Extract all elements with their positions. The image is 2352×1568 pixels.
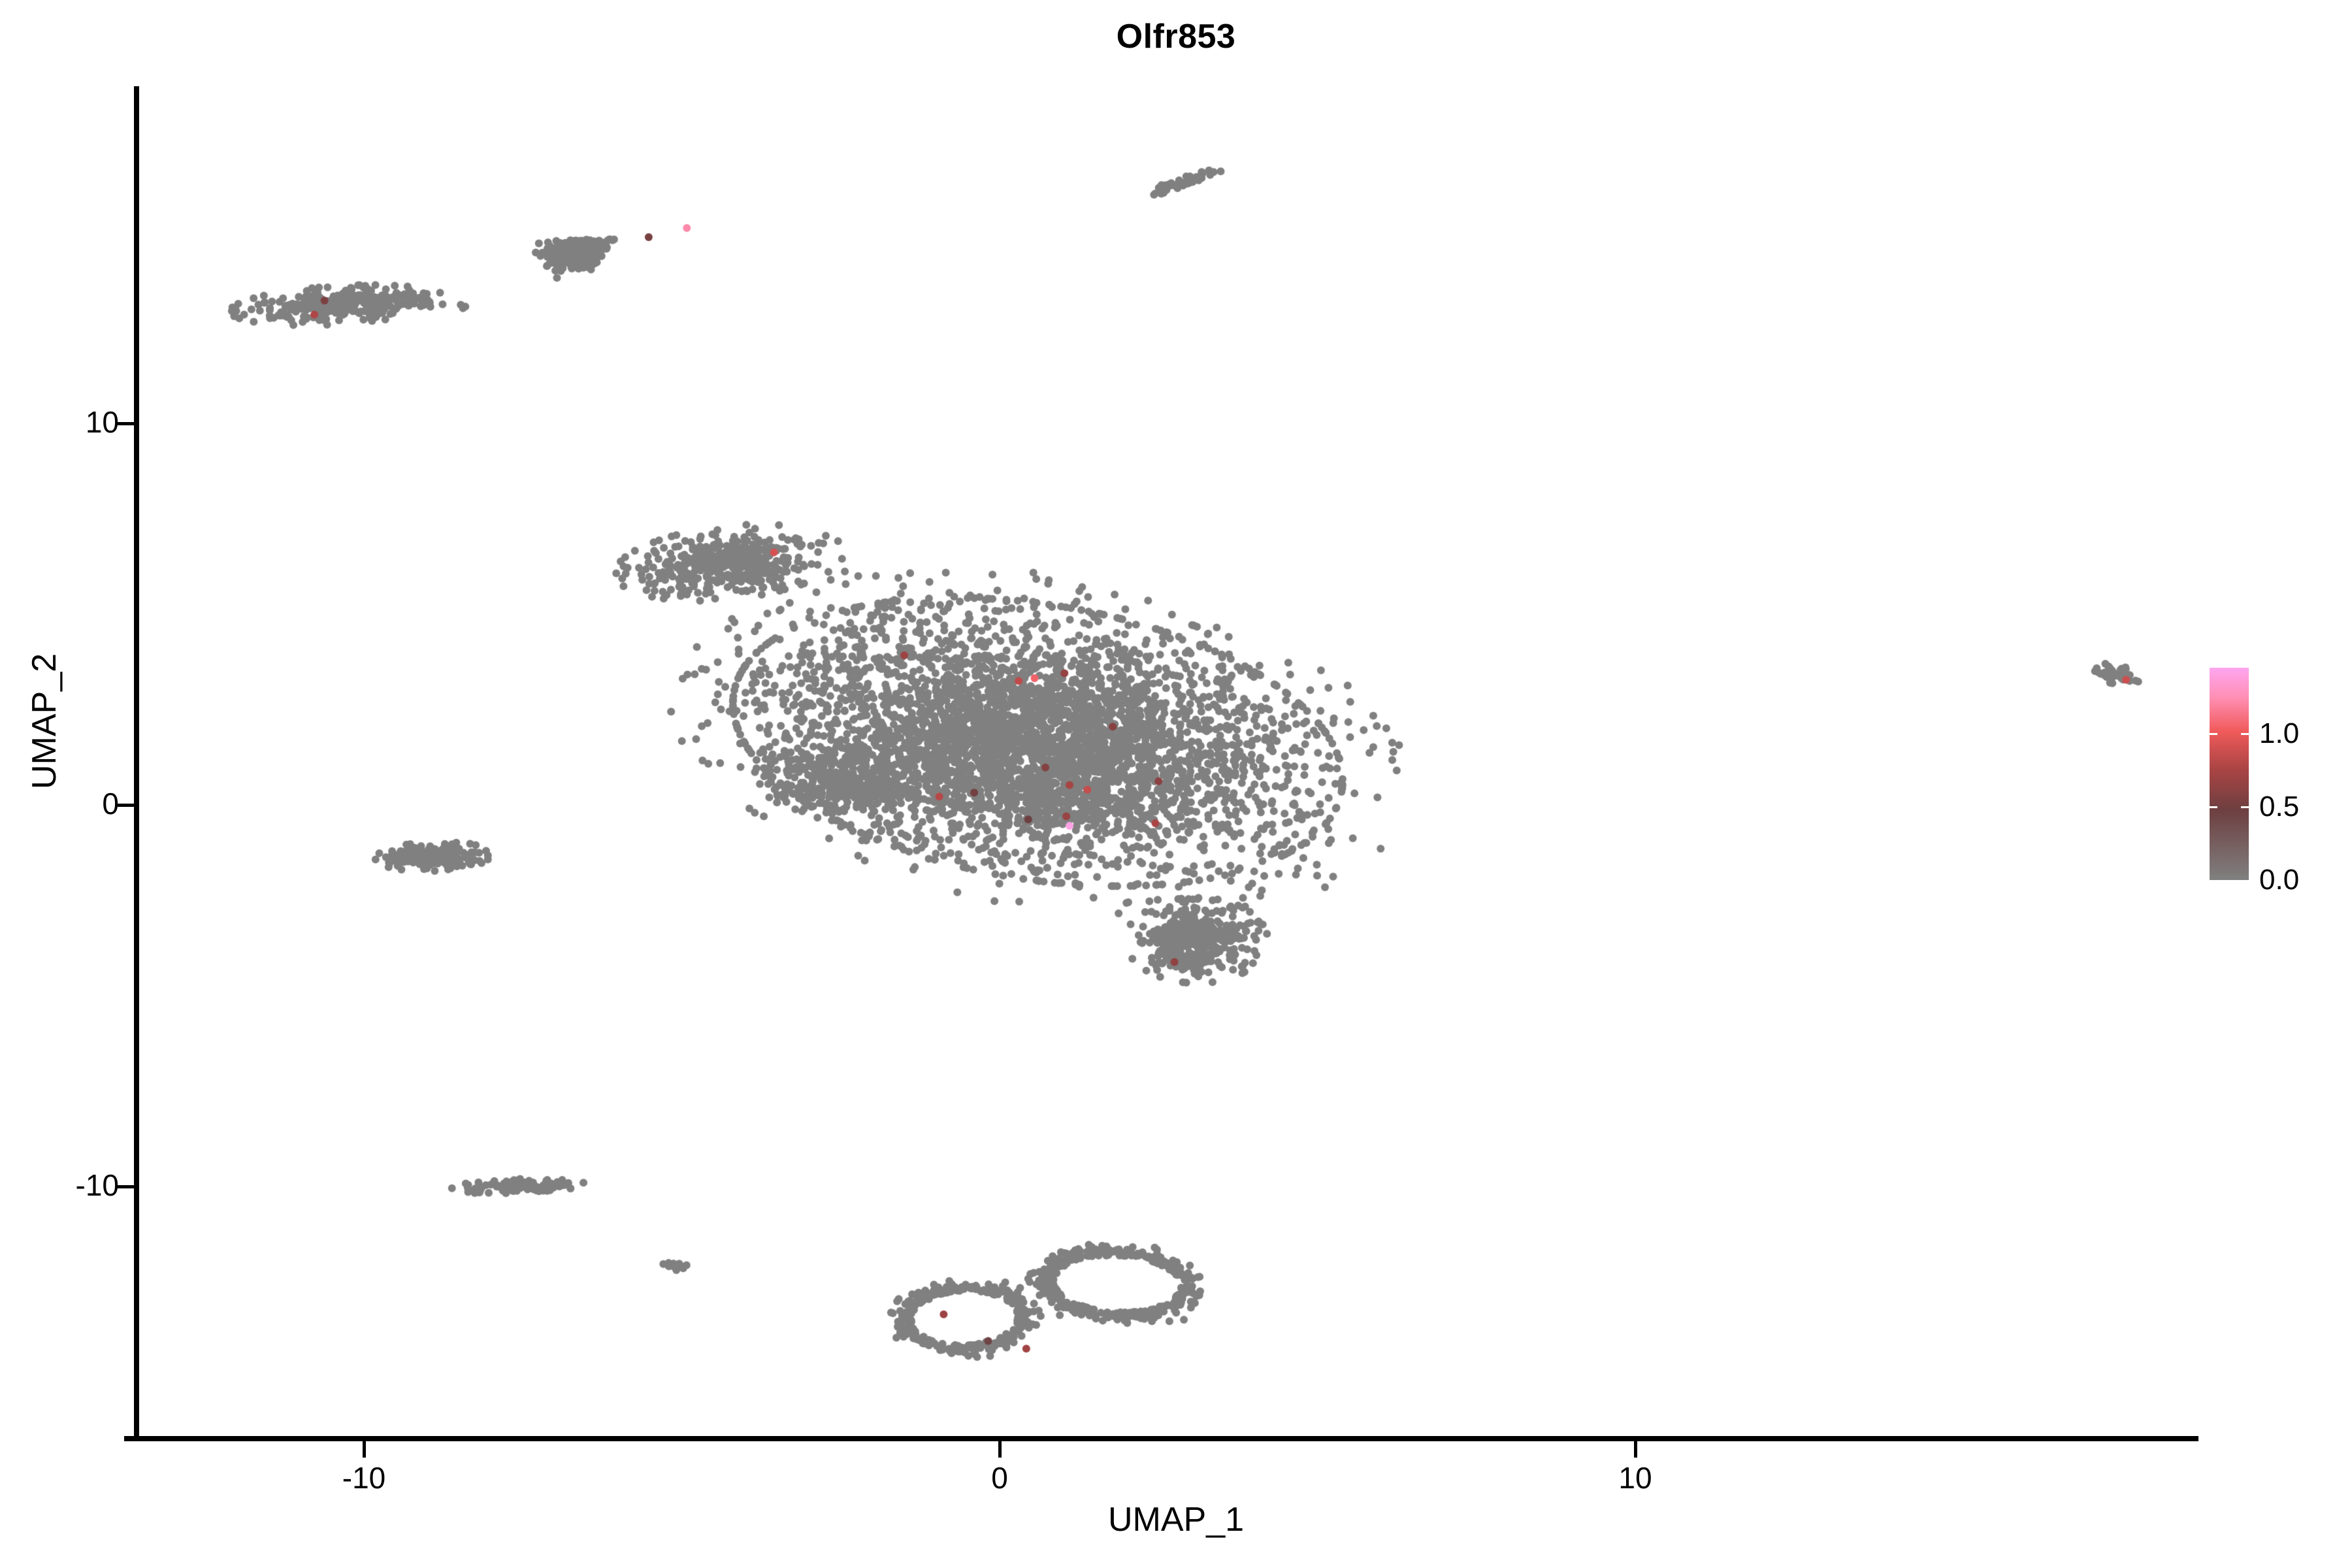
legend-colorbar: 0.00.51.0 bbox=[2210, 668, 2334, 887]
y-tick-mark bbox=[118, 1185, 135, 1188]
x-tick-label: -10 bbox=[279, 1462, 449, 1494]
scatter-plot-canvas bbox=[139, 85, 2197, 1441]
colorbar-tick-mark bbox=[2210, 733, 2217, 735]
y-tick-label: 10 bbox=[0, 406, 119, 438]
x-tick-label: 10 bbox=[1550, 1462, 1720, 1494]
x-tick-mark bbox=[363, 1441, 366, 1458]
colorbar-tick-mark bbox=[2241, 733, 2249, 735]
y-tick-mark bbox=[118, 804, 135, 807]
y-tick-label: -10 bbox=[0, 1169, 119, 1201]
y-tick-mark bbox=[118, 422, 135, 425]
scatter-panel bbox=[139, 85, 2197, 1441]
colorbar-tick-label: 1.0 bbox=[2259, 719, 2299, 748]
colorbar-gradient bbox=[2210, 668, 2249, 880]
x-tick-mark bbox=[1634, 1441, 1637, 1458]
colorbar-tick-label: 0.0 bbox=[2259, 866, 2299, 894]
x-axis-title: UMAP_1 bbox=[0, 1503, 2352, 1537]
colorbar-tick-mark bbox=[2210, 806, 2217, 808]
x-tick-label: 0 bbox=[915, 1462, 1085, 1494]
colorbar-tick-mark bbox=[2241, 806, 2249, 808]
colorbar-tick-label: 0.5 bbox=[2259, 792, 2299, 821]
y-axis-title: UMAP_2 bbox=[27, 512, 61, 930]
plot-root: Olfr853 -10010 100-10 UMAP_1 UMAP_2 0.00… bbox=[0, 0, 2352, 1568]
x-axis-line bbox=[124, 1436, 2198, 1441]
x-tick-mark bbox=[998, 1441, 1002, 1458]
y-axis-line bbox=[134, 86, 139, 1440]
page-title: Olfr853 bbox=[0, 20, 2352, 54]
